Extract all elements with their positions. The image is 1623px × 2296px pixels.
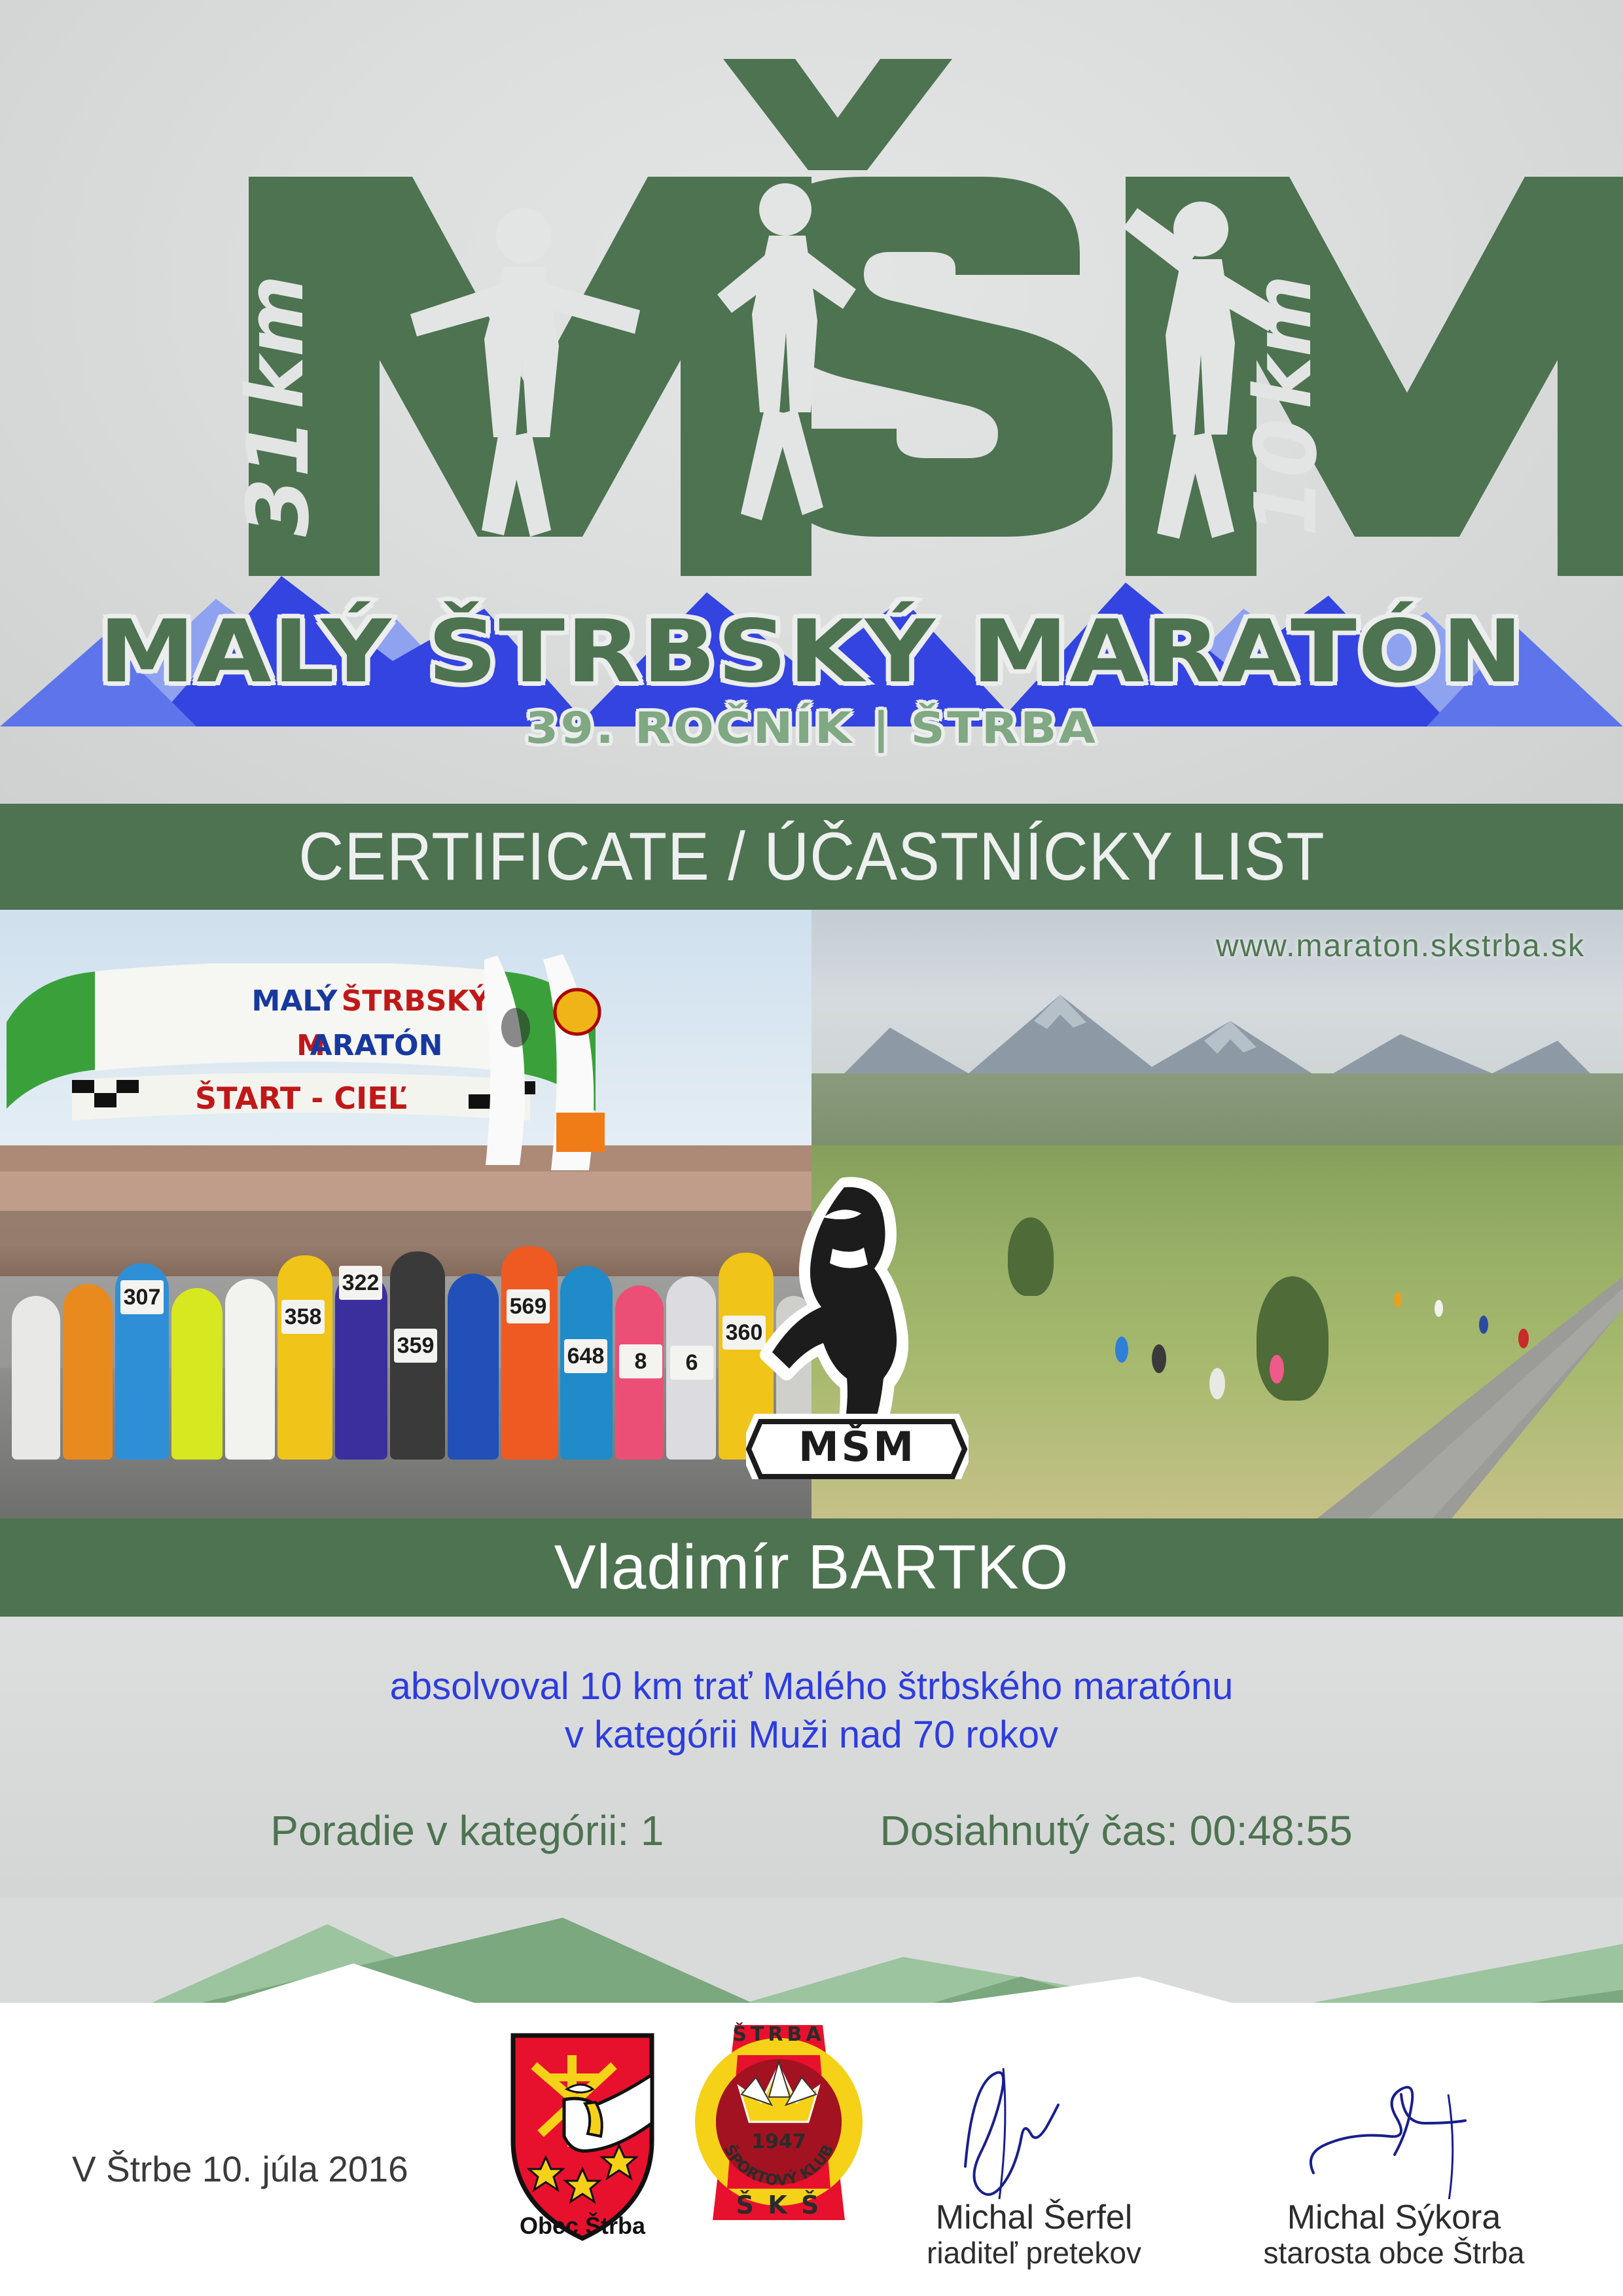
- bib-number: 358: [281, 1300, 325, 1334]
- certificate-title-banner: CERTIFICATE / ÚČASTNÍCKY LIST: [0, 804, 1623, 910]
- distant-runner: [1209, 1368, 1225, 1399]
- event-wordmark: MALÝ ŠTRBSKÝ MARATÓN 39. ROČNÍK | ŠTRBA: [0, 609, 1623, 750]
- tree: [1257, 1276, 1329, 1401]
- wordmark-subtitle: 39. ROČNÍK | ŠTRBA: [0, 707, 1623, 750]
- certificate-title: CERTIFICATE / ÚČASTNÍCKY LIST: [298, 818, 1325, 896]
- participant-name-banner: Vladimír BARTKO: [0, 1518, 1623, 1617]
- photo-strip: MALÝ ŠTRBSKÝ M ARATÓN ŠTART - CIEĽ: [0, 910, 1623, 1518]
- distant-runner: [1479, 1316, 1488, 1334]
- msm-runner-overlay-icon: MŠM: [746, 1172, 969, 1479]
- description-line-2: v kategórii Muži nad 70 rokov: [0, 1711, 1623, 1759]
- village-strba: [811, 1073, 1623, 1152]
- signatory-role: riaditeľ pretekov: [851, 2236, 1217, 2270]
- certificate-body: absolvoval 10 km trať Malého štrbského m…: [0, 1617, 1623, 1898]
- result-row: Poradie v kategórii: 1 Dosiahnutý čas: 0…: [0, 1806, 1623, 1855]
- category-rank: Poradie v kategórii: 1: [270, 1806, 664, 1855]
- bib-number: 322: [339, 1266, 382, 1300]
- website-url[interactable]: www.maraton.skstrba.sk: [1216, 928, 1585, 964]
- bib-number: 307: [120, 1280, 164, 1314]
- distant-runner: [1270, 1355, 1284, 1384]
- distant-runner: [1435, 1300, 1443, 1317]
- certificate-footer: V Štrbe 10. júla 2016 Obec Štrba: [0, 2003, 1623, 2296]
- issue-date: V Štrbe 10. júla 2016: [72, 2148, 408, 2190]
- svg-text:MALÝ: MALÝ: [252, 983, 338, 1018]
- svg-text:ARATÓN: ARATÓN: [310, 1028, 443, 1062]
- bib-number: 648: [564, 1339, 607, 1373]
- obec-strba-label: Obec Štrba: [504, 2212, 661, 2240]
- achievement-description: absolvoval 10 km trať Malého štrbského m…: [0, 1662, 1623, 1759]
- bib-number: 569: [507, 1289, 550, 1323]
- msm-lettermark: 31 km 10 km: [0, 39, 1623, 576]
- svg-text:10: 10: [1236, 418, 1336, 537]
- svg-text:km: km: [230, 275, 321, 409]
- description-line-1: absolvoval 10 km trať Malého štrbského m…: [0, 1662, 1623, 1711]
- svg-text:31: 31: [228, 418, 328, 537]
- event-flags-graphic: [484, 949, 641, 1172]
- svg-text:MŠM: MŠM: [798, 1423, 916, 1471]
- signatory-role: starosta obce Štrba: [1211, 2236, 1577, 2270]
- photo-start-line: MALÝ ŠTRBSKÝ M ARATÓN ŠTART - CIEĽ: [0, 910, 811, 1518]
- signature-mark-icon: [1286, 2068, 1502, 2199]
- signatory-name: Michal Šerfel: [851, 2199, 1217, 2236]
- svg-text:ŠTART - CIEĽ: ŠTART - CIEĽ: [195, 1081, 407, 1116]
- distant-runner: [1152, 1344, 1166, 1373]
- distant-runner: [1518, 1329, 1529, 1348]
- svg-text:ŠTRBSKÝ: ŠTRBSKÝ: [342, 983, 491, 1018]
- bib-number: 8: [619, 1344, 662, 1378]
- participant-name: Vladimír BARTKO: [554, 1532, 1069, 1604]
- sks-club-logo-icon: ŠTRBA 1947 ŠPORTOVÝ KLUB Š K Š: [690, 2017, 867, 2233]
- signature-mark-icon: [926, 2068, 1142, 2199]
- distant-runner: [1115, 1336, 1128, 1363]
- logo-header: 31 km 10 km: [0, 0, 1623, 804]
- signature-block-mayor: Michal Sýkora starosta obce Štrba: [1211, 2068, 1577, 2270]
- svg-text:1947: 1947: [751, 2130, 806, 2153]
- signature-block-director: Michal Šerfel riaditeľ pretekov: [851, 2068, 1217, 2270]
- svg-text:ŠTRBA: ŠTRBA: [732, 2022, 825, 2046]
- wordmark-main-title: MALÝ ŠTRBSKÝ MARATÓN: [0, 609, 1623, 695]
- signatory-name: Michal Sýkora: [1211, 2199, 1577, 2236]
- finish-time: Dosiahnutý čas: 00:48:55: [880, 1806, 1352, 1855]
- bib-number: 6: [670, 1346, 713, 1380]
- tree: [1008, 1217, 1054, 1296]
- distant-runner: [1394, 1292, 1402, 1308]
- svg-text:Š K Š: Š K Š: [736, 2191, 822, 2219]
- bib-number: 359: [394, 1329, 437, 1363]
- runner-crowd: 307 358 322 359 569 648 8 6 360: [0, 1198, 811, 1460]
